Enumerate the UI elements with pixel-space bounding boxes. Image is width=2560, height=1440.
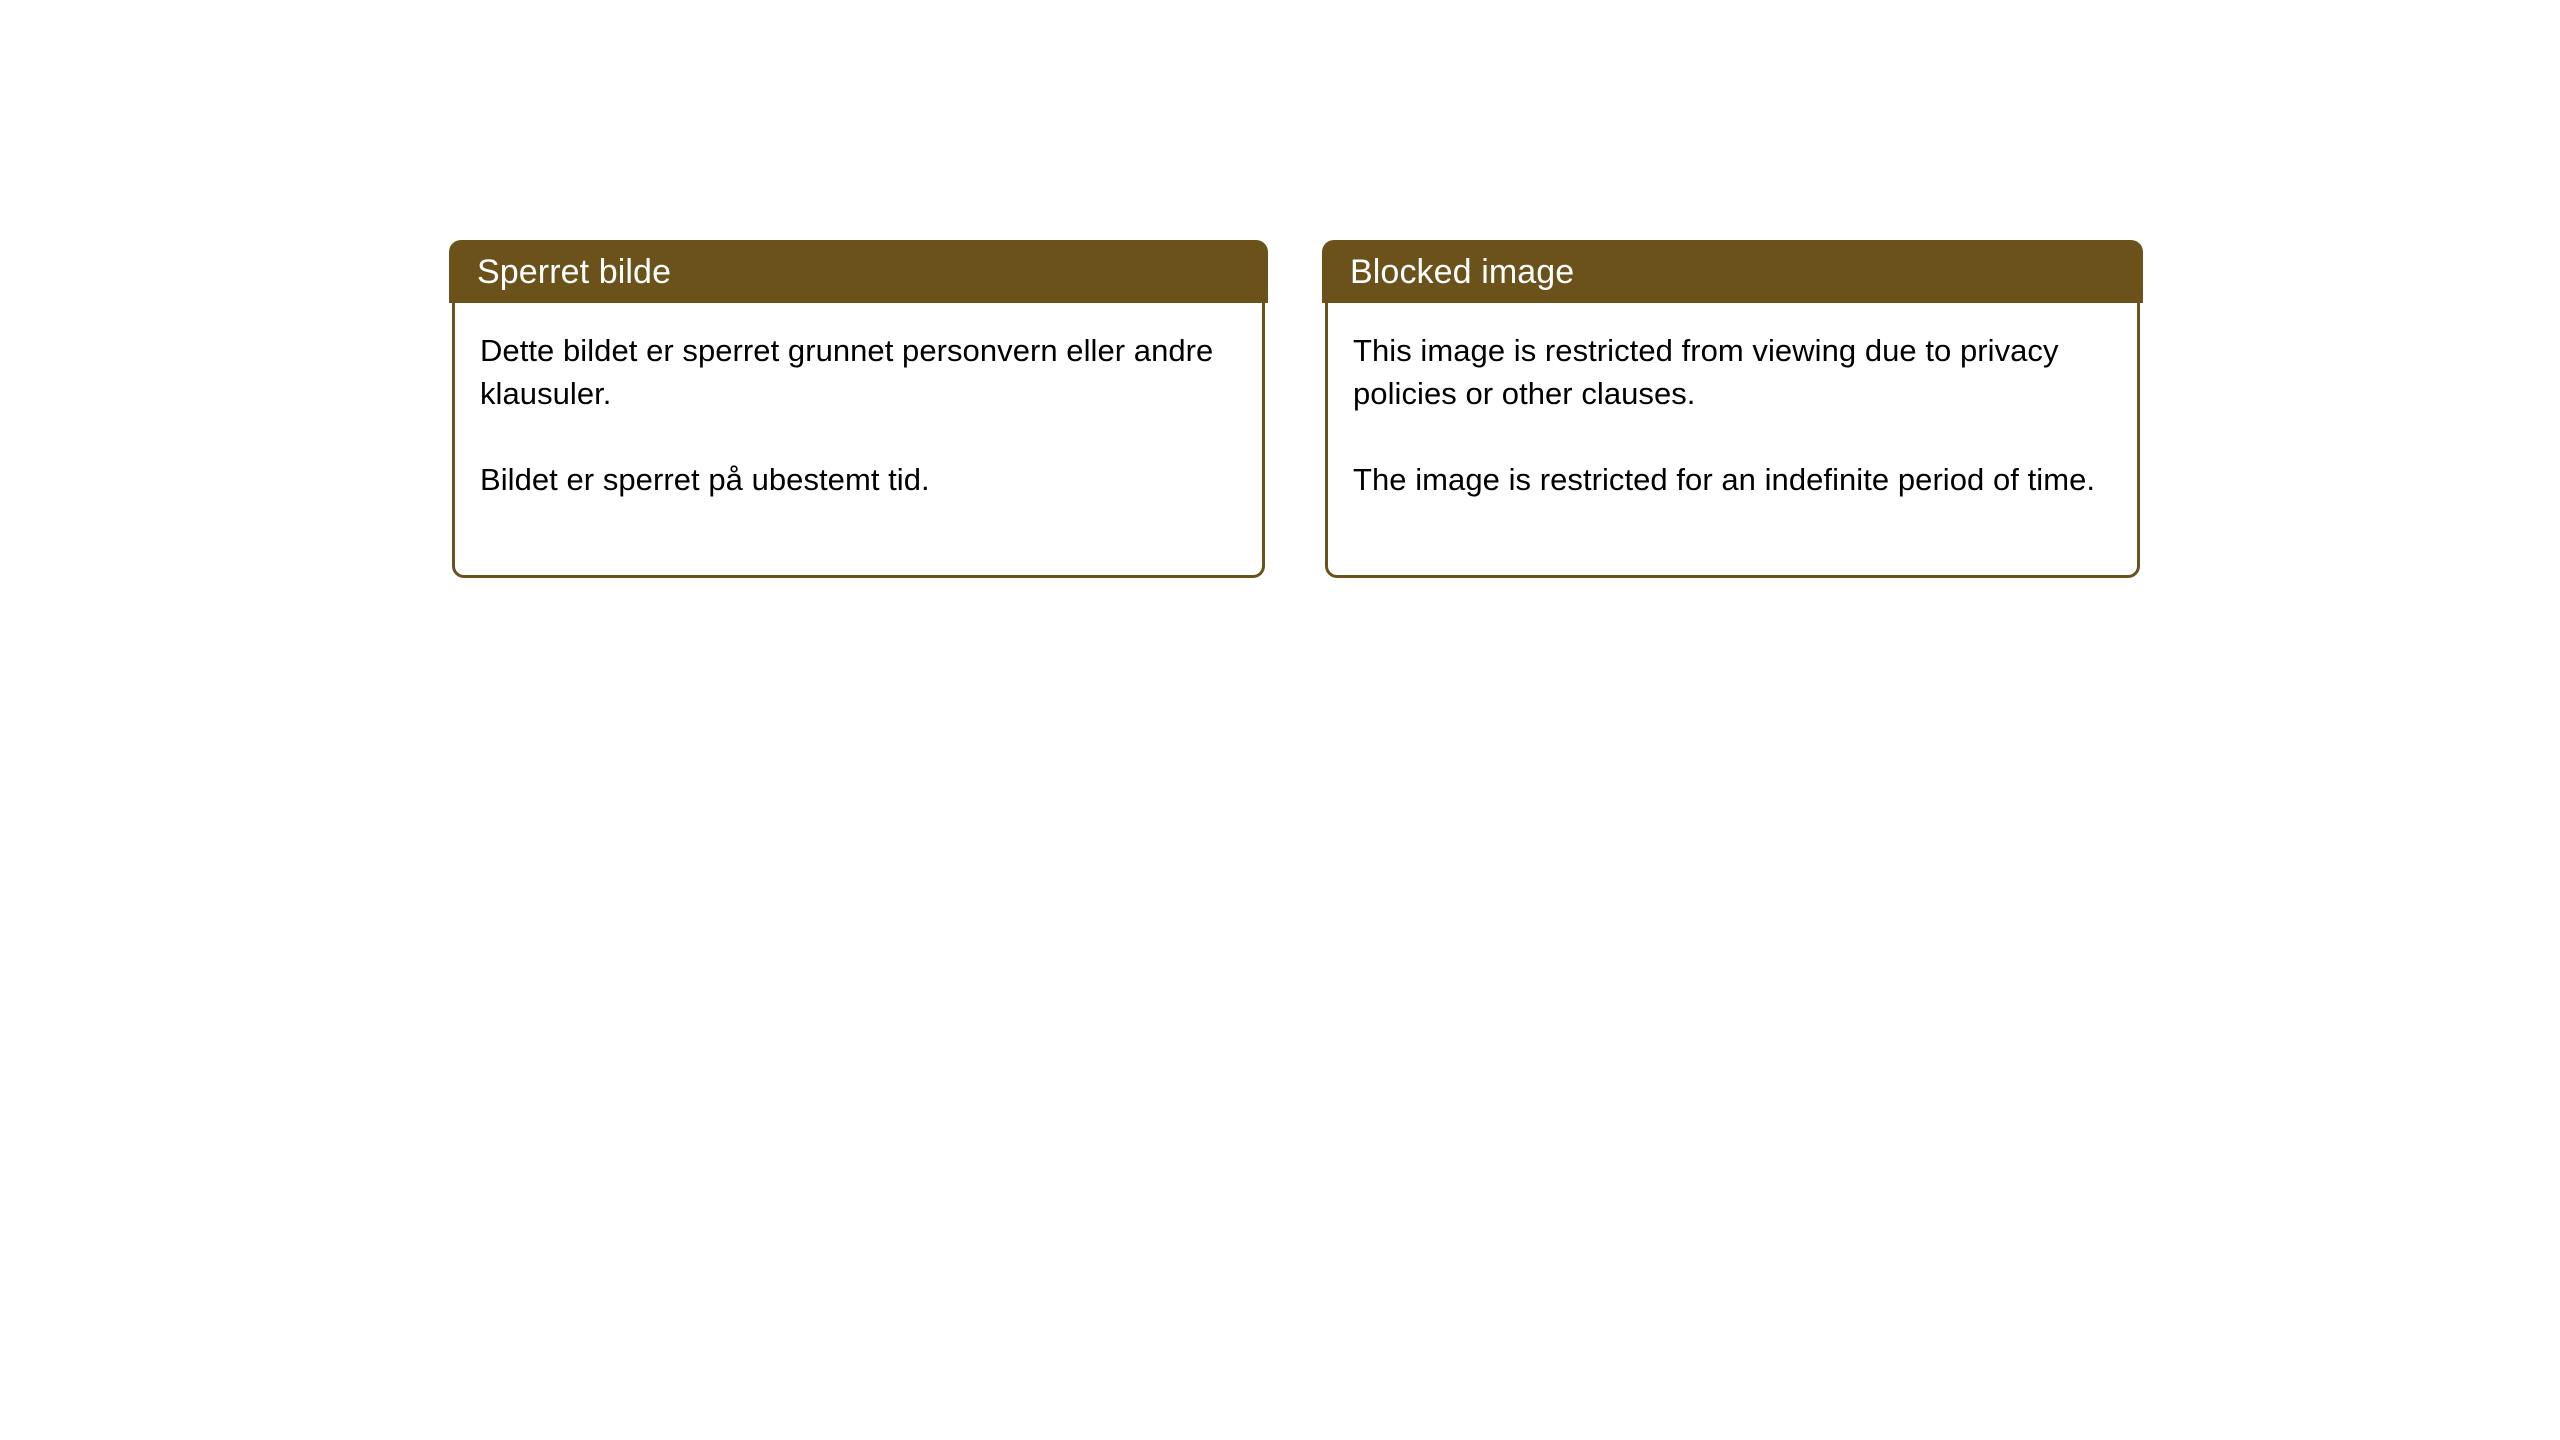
notice-title-en: Blocked image — [1350, 255, 1574, 289]
notice-paragraph-en-2: The image is restricted for an indefinit… — [1353, 458, 2117, 501]
notice-body-no: Dette bildet er sperret grunnet personve… — [452, 303, 1265, 578]
notice-title-no: Sperret bilde — [477, 255, 671, 289]
notice-header-no: Sperret bilde — [449, 240, 1268, 303]
page-canvas: Sperret bilde Dette bildet er sperret gr… — [0, 0, 2560, 1440]
notice-paragraph-no-2: Bildet er sperret på ubestemt tid. — [480, 458, 1242, 501]
notice-paragraph-en-1: This image is restricted from viewing du… — [1353, 329, 2117, 415]
notice-header-en: Blocked image — [1322, 240, 2143, 303]
notice-body-en: This image is restricted from viewing du… — [1325, 303, 2140, 578]
notice-paragraph-no-1: Dette bildet er sperret grunnet personve… — [480, 329, 1242, 415]
blocked-image-notice-no: Sperret bilde Dette bildet er sperret gr… — [452, 240, 1265, 578]
blocked-image-notice-en: Blocked image This image is restricted f… — [1325, 240, 2140, 578]
